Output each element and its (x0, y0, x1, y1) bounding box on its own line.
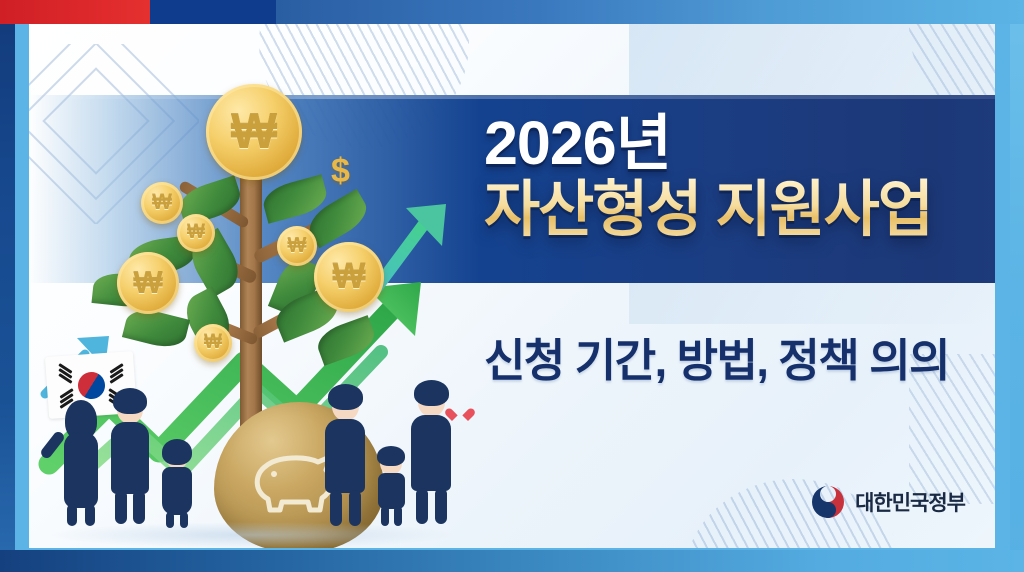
dollar-sign-icon: $ (331, 152, 350, 191)
coin-lower-small: ₩ (194, 324, 232, 362)
page-subtitle: 신청 기간, 방법, 정책 의의 (484, 324, 995, 389)
page-title-year: 2026년 (484, 112, 995, 174)
person-leg (115, 490, 127, 524)
coin-symbol: ₩ (332, 257, 365, 297)
heart-icon (452, 409, 467, 423)
coin-symbol: ₩ (204, 332, 222, 354)
person-hair (414, 380, 449, 406)
person-leg (330, 490, 342, 526)
person-leg (67, 504, 77, 526)
coin-symbol: ₩ (231, 104, 277, 160)
frame-border-bottom (0, 550, 1024, 572)
person-leg (416, 488, 428, 524)
person-hair (162, 439, 192, 465)
frame-border-left (0, 0, 15, 572)
coin-left-mid: ₩ (177, 214, 215, 252)
frame-border-top (0, 0, 1024, 24)
tree-trunk (240, 142, 262, 442)
poster-inner-canvas: ₩ ₩ ₩ ₩ ₩ ₩ ₩ $ (29, 24, 995, 548)
illustration-money-tree-family: ₩ ₩ ₩ ₩ ₩ ₩ ₩ $ (29, 24, 459, 548)
person-man-left (101, 384, 159, 532)
government-logo: 대한민국정부 (810, 484, 965, 520)
person-man-right-2 (401, 376, 461, 532)
person-leg (166, 512, 174, 528)
person-body (411, 415, 451, 491)
person-body (111, 422, 149, 494)
government-logo-label: 대한민국정부 (855, 487, 965, 517)
coin-symbol: ₩ (187, 222, 205, 244)
person-body (64, 432, 98, 508)
person-leg (180, 512, 188, 528)
coin-left-large: ₩ (117, 252, 179, 314)
person-man-right-1 (315, 380, 375, 532)
person-leg (381, 506, 389, 526)
coin-symbol: ₩ (288, 235, 307, 258)
frame-border-right (1010, 0, 1024, 572)
person-hair (113, 388, 147, 414)
top-stripe-gradient (276, 0, 1024, 24)
page-title-main: 자산형성 지원사업 (484, 177, 995, 243)
person-leg (85, 504, 95, 526)
person-leg (435, 488, 447, 524)
title-group: 2026년 자산형성 지원사업 (484, 112, 995, 243)
poster-canvas: ₩ ₩ ₩ ₩ ₩ ₩ ₩ $ (0, 0, 1024, 572)
person-body (325, 419, 365, 493)
korea-government-taegeuk-icon (810, 484, 846, 520)
person-body (162, 467, 192, 515)
top-stripe-red (0, 0, 150, 24)
coin-right-large: ₩ (314, 242, 384, 312)
coin-symbol: ₩ (152, 191, 172, 215)
coin-symbol: ₩ (133, 265, 162, 301)
person-hair (328, 384, 363, 410)
person-leg (133, 490, 145, 524)
coin-center-small: ₩ (277, 226, 317, 266)
person-leg (349, 490, 361, 526)
coin-top-large: ₩ (206, 84, 302, 180)
coin-left-small: ₩ (141, 182, 183, 224)
person-girl-child (153, 436, 201, 532)
top-stripe-navy (150, 0, 290, 24)
